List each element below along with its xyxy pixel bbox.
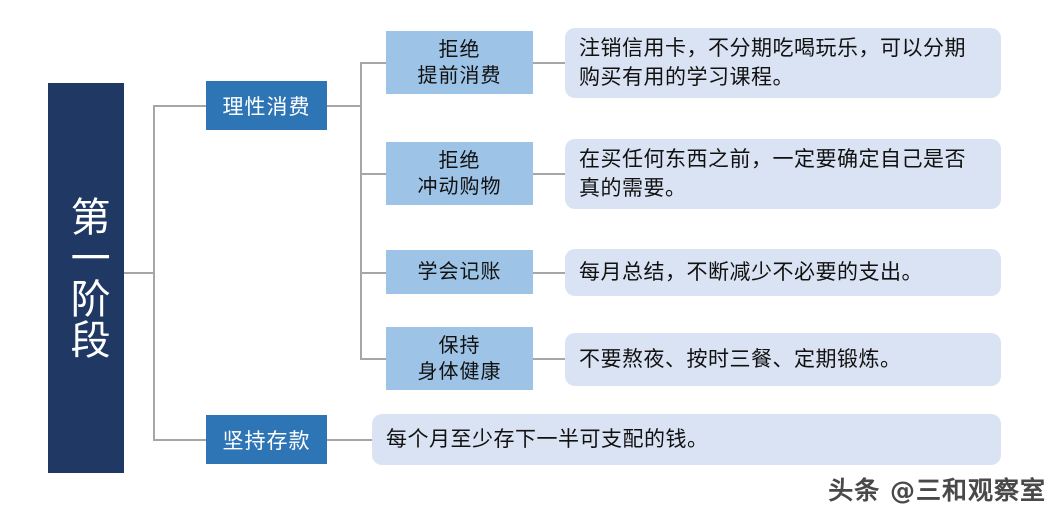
connector-branch1-stub <box>327 105 361 107</box>
leaf-node-maintain-health[interactable]: 保持 身体健康 <box>386 327 533 390</box>
connector-branch1-trunk <box>360 62 362 359</box>
leaf-node-label-line1: 拒绝 <box>418 37 502 63</box>
description-learn-bookkeeping: 每月总结，不断减少不必要的支出。 <box>565 249 1001 296</box>
leaf-node-learn-bookkeeping[interactable]: 学会记账 <box>386 250 533 294</box>
connector-leaf1-to-desc <box>533 62 566 64</box>
leaf-node-label-line2: 身体健康 <box>418 359 502 385</box>
connector-to-leaf-4 <box>360 358 386 360</box>
connector-root-trunk <box>153 105 155 441</box>
description-refuse-impulse-shopping: 在买任何东西之前，一定要确定自己是否真的需要。 <box>565 139 1001 209</box>
description-text: 每个月至少存下一半可支配的钱。 <box>386 425 709 454</box>
leaf-node-refuse-impulse-shopping[interactable]: 拒绝 冲动购物 <box>386 142 533 205</box>
connector-to-leaf-1 <box>360 62 386 64</box>
leaf-node-label-line1: 保持 <box>418 333 502 359</box>
connector-leaf3-to-desc <box>533 272 566 274</box>
leaf-node-refuse-advance-consumption[interactable]: 拒绝 提前消费 <box>386 31 533 94</box>
connector-branch2-to-desc <box>327 439 372 441</box>
description-maintain-health: 不要熬夜、按时三餐、定期锻炼。 <box>565 333 1001 386</box>
description-refuse-advance-consumption: 注销信用卡，不分期吃喝玩乐，可以分期购买有用的学习课程。 <box>565 28 1001 98</box>
branch-node-label: 理性消费 <box>223 91 311 121</box>
connector-leaf4-to-desc <box>533 358 566 360</box>
branch-node-label: 坚持存款 <box>223 425 311 455</box>
connector-to-leaf-2 <box>360 173 386 175</box>
connector-to-branch-2 <box>153 439 206 441</box>
connector-root-stub <box>124 272 154 274</box>
watermark: 头条 @三和观察室 <box>828 471 1046 507</box>
leaf-node-label-line2: 冲动购物 <box>418 174 502 200</box>
description-text: 在买任何东西之前，一定要确定自己是否真的需要。 <box>579 145 987 203</box>
branch-node-rational-consumption[interactable]: 理性消费 <box>206 81 327 130</box>
branch-node-persist-saving[interactable]: 坚持存款 <box>206 415 327 464</box>
mindmap-canvas: 第一阶段 理性消费 坚持存款 拒绝 提前消费 拒绝 冲动购物 学会记账 保持 身… <box>0 0 1060 517</box>
description-text: 每月总结，不断减少不必要的支出。 <box>579 258 923 287</box>
leaf-node-label-line2: 提前消费 <box>418 63 502 89</box>
root-node-first-stage[interactable]: 第一阶段 <box>48 83 124 473</box>
description-text: 不要熬夜、按时三餐、定期锻炼。 <box>579 345 902 374</box>
watermark-text: 头条 @三和观察室 <box>828 476 1046 505</box>
description-text: 注销信用卡，不分期吃喝玩乐，可以分期购买有用的学习课程。 <box>579 34 987 92</box>
leaf-node-label-line1: 拒绝 <box>418 148 502 174</box>
description-persist-saving: 每个月至少存下一半可支配的钱。 <box>372 414 1001 465</box>
connector-leaf2-to-desc <box>533 173 566 175</box>
leaf-node-label-line1: 学会记账 <box>418 259 502 285</box>
connector-to-branch-1 <box>153 105 206 107</box>
root-node-label: 第一阶段 <box>62 196 109 360</box>
connector-to-leaf-3 <box>360 272 386 274</box>
